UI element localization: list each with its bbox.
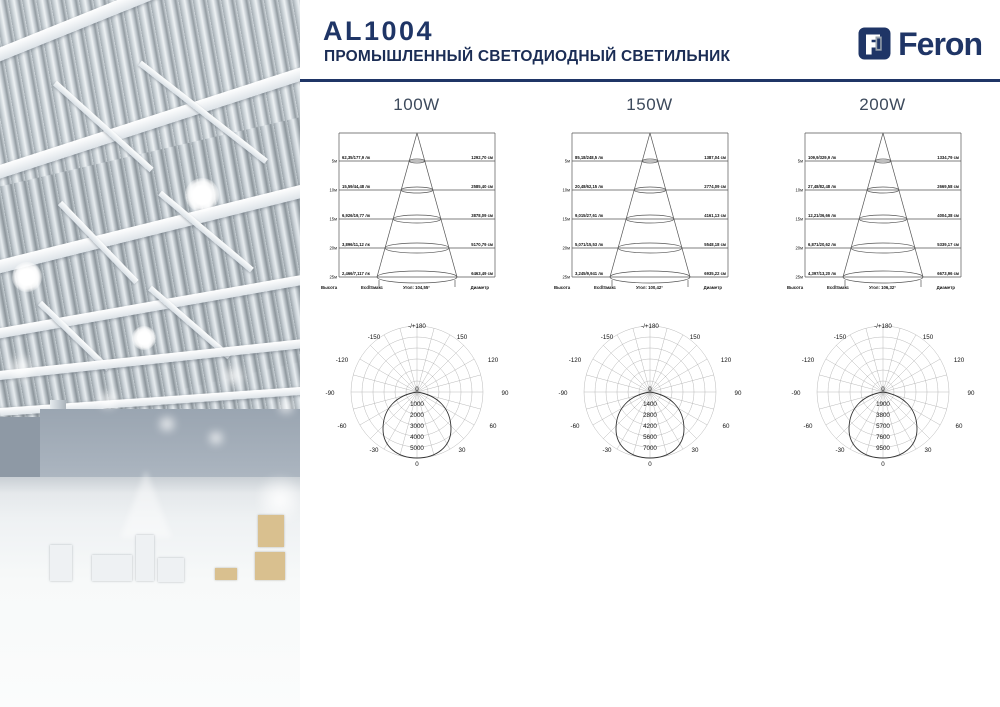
- polar-angle-tick: -30: [369, 447, 379, 454]
- polar-angle-tick: -150: [600, 334, 613, 341]
- beam-diagram-100w: 5м 10м 15м 20м 25м 62,35/177,9 лк 15,59/…: [317, 127, 517, 292]
- polar-radial-tick: 1400: [643, 401, 657, 408]
- polar-angle-tick: 120: [953, 357, 964, 364]
- lux-label: 5,071/15,53 лк: [575, 242, 604, 247]
- lux-label: 85,18/248,5 лк: [575, 155, 604, 160]
- height-label: 25м: [329, 275, 337, 280]
- power-title-100w: 100W: [300, 95, 533, 115]
- polar-angle-tick: 90: [501, 390, 508, 397]
- polar-angle-tick: 150: [689, 334, 700, 341]
- lamp-glow: [95, 390, 121, 410]
- lamp-glow: [205, 430, 227, 446]
- brand-logo: Feron: [858, 27, 982, 60]
- polar-diagram-200w: -/+180 -150 150 -120 120 -90 90 -60 60 -…: [778, 314, 988, 484]
- polar-angle-tick: -120: [568, 357, 581, 364]
- footer-diameter: Диаметр: [703, 285, 722, 290]
- polar-angle-tick: 120: [720, 357, 731, 364]
- lux-label: 12,21/36,66 лк: [808, 213, 837, 218]
- polar-angle-tick: 60: [722, 423, 729, 430]
- diameter-label: 1387,04 см: [704, 155, 726, 160]
- feron-f-logo-icon: [858, 27, 891, 60]
- polar-angle-tick: -/+180: [641, 323, 659, 330]
- polar-radial-tick: 0: [881, 386, 885, 393]
- floor-equipment: [136, 535, 154, 581]
- lux-label: 15,59/44,48 лк: [342, 184, 371, 189]
- footer-lux: Еcd/Sмакс: [827, 285, 850, 290]
- polar-radial-tick: 7600: [876, 434, 890, 441]
- height-label: 15м: [795, 217, 803, 222]
- polar-angle-tick: 0: [648, 461, 652, 468]
- light-cone: [120, 470, 172, 538]
- polar-angle-tick: 150: [456, 334, 467, 341]
- floor-equipment: [92, 555, 132, 581]
- lux-label: 3,245/9,941 лк: [575, 271, 604, 276]
- diameter-label: 6673,96 см: [937, 271, 959, 276]
- product-application-photo: [0, 0, 300, 707]
- footer-lux: Еcd/Sмакс: [594, 285, 617, 290]
- polar-angle-tick: 30: [458, 447, 465, 454]
- polar-diagram-100w: -/+180 -150 150 -120 120 -90 90 -60 60 -…: [312, 314, 522, 484]
- polar-angle-tick: -30: [835, 447, 845, 454]
- diameter-label: 6463,49 см: [471, 271, 493, 276]
- diameter-label: 5339,17 см: [937, 242, 959, 247]
- polar-angle-tick: -60: [803, 423, 813, 430]
- polar-angle-tick: -150: [833, 334, 846, 341]
- polar-angle-tick: -150: [367, 334, 380, 341]
- lux-label: 6,926/19,77 лк: [342, 213, 371, 218]
- lux-label: 9,015/27,61 лк: [575, 213, 604, 218]
- height-label: 25м: [562, 275, 570, 280]
- polar-angle-tick: 90: [734, 390, 741, 397]
- polar-angle-tick: 30: [924, 447, 931, 454]
- polar-angle-tick: -60: [570, 423, 580, 430]
- footer-diameter: Диаметр: [470, 285, 489, 290]
- height-label: 5м: [564, 159, 569, 164]
- lux-label: 27,48/82,48 лк: [808, 184, 837, 189]
- diameter-label: 1292,70 см: [471, 155, 493, 160]
- polar-radial-tick: 3800: [876, 412, 890, 419]
- height-label: 20м: [795, 246, 803, 251]
- diameter-label: 5170,79 см: [471, 242, 493, 247]
- polar-angle-tick: 90: [967, 390, 974, 397]
- product-subtitle: ПРОМЫШЛЕННЫЙ СВЕТОДИОДНЫЙ СВЕТИЛЬНИК: [324, 48, 730, 66]
- floor-equipment: [50, 545, 72, 581]
- footer-height: Высота: [787, 285, 804, 290]
- polar-angle-tick: -90: [558, 390, 568, 397]
- diameter-label: 4161,13 см: [704, 213, 726, 218]
- height-label: 10м: [329, 188, 337, 193]
- lamp-glow: [4, 355, 38, 381]
- power-column-100w: 100W: [300, 95, 533, 515]
- polar-radial-tick: 9500: [876, 445, 890, 452]
- wooden-crate: [255, 552, 285, 580]
- wooden-crate: [215, 568, 237, 580]
- polar-angle-tick: 120: [487, 357, 498, 364]
- polar-radial-tick: 5000: [410, 445, 424, 452]
- lamp-glow: [275, 398, 297, 415]
- footer-lux: Еcd/Sмакс: [361, 285, 384, 290]
- led-highbay-lamp: [185, 178, 219, 212]
- product-model-title: AL1004: [323, 16, 434, 47]
- polar-radial-tick: 7000: [643, 445, 657, 452]
- polar-radial-tick: 4200: [643, 423, 657, 430]
- polar-radial-tick: 0: [648, 386, 652, 393]
- power-title-200w: 200W: [766, 95, 999, 115]
- footer-diameter: Диаметр: [936, 285, 955, 290]
- polar-radial-tick: 3000: [410, 423, 424, 430]
- diameter-label: 2774,09 см: [704, 184, 726, 189]
- diameter-label: 2669,58 см: [937, 184, 959, 189]
- diameter-label: 1334,79 см: [937, 155, 959, 160]
- product-datasheet-page: AL1004 ПРОМЫШЛЕННЫЙ СВЕТОДИОДНЫЙ СВЕТИЛЬ…: [0, 0, 1000, 707]
- polar-angle-tick: 30: [691, 447, 698, 454]
- polar-angle-tick: -120: [801, 357, 814, 364]
- polar-radial-tick: 5700: [876, 423, 890, 430]
- diameter-label: 2585,40 см: [471, 184, 493, 189]
- polar-angle-tick: 150: [922, 334, 933, 341]
- polar-angle-tick: -/+180: [874, 323, 892, 330]
- polar-angle-tick: 0: [881, 461, 885, 468]
- height-label: 5м: [331, 159, 336, 164]
- diameter-label: 3878,09 см: [471, 213, 493, 218]
- footer-height: Высота: [321, 285, 338, 290]
- led-highbay-lamp: [12, 262, 42, 292]
- height-label: 10м: [562, 188, 570, 193]
- footer-height: Высота: [554, 285, 571, 290]
- polar-angle-tick: 0: [415, 461, 419, 468]
- height-label: 15м: [329, 217, 337, 222]
- footer-angle: Угол: 106,32°: [869, 285, 896, 290]
- power-column-200w: 200W: [766, 95, 999, 515]
- polar-angle-tick: -/+180: [408, 323, 426, 330]
- header-divider: [300, 79, 1000, 82]
- polar-angle-tick: -30: [602, 447, 612, 454]
- polar-angle-tick: -60: [337, 423, 347, 430]
- height-label: 5м: [797, 159, 802, 164]
- diameter-label: 4004,38 см: [937, 213, 959, 218]
- led-highbay-lamp: [132, 326, 156, 350]
- beam-diagram-200w: 5м 10м 15м 20м 25м 109,9/329,9 лк 27,48/…: [783, 127, 983, 292]
- height-label: 15м: [562, 217, 570, 222]
- polar-radial-tick: 4000: [410, 434, 424, 441]
- lux-label: 2,466/7,117 лк: [342, 271, 371, 276]
- height-label: 20м: [329, 246, 337, 251]
- polar-angle-tick: -120: [335, 357, 348, 364]
- wooden-crate: [258, 515, 284, 547]
- diameter-label: 5548,18 см: [704, 242, 726, 247]
- lux-label: 6,871/20,62 лк: [808, 242, 837, 247]
- lux-label: 4,397/13,20 лк: [808, 271, 837, 276]
- polar-angle-tick: -90: [791, 390, 801, 397]
- polar-radial-tick: 2000: [410, 412, 424, 419]
- footer-angle: Угол: 104,55°: [403, 285, 430, 290]
- lux-label: 20,48/62,15 лк: [575, 184, 604, 189]
- polar-angle-tick: 60: [489, 423, 496, 430]
- brand-name: Feron: [898, 28, 982, 60]
- photometric-columns: 100W: [300, 95, 1000, 515]
- polar-radial-tick: 5600: [643, 434, 657, 441]
- floor-equipment: [158, 558, 184, 582]
- polar-radial-tick: 1900: [876, 401, 890, 408]
- lux-label: 62,35/177,9 лк: [342, 155, 371, 160]
- polar-radial-tick: 0: [415, 386, 419, 393]
- polar-angle-tick: 60: [955, 423, 962, 430]
- polar-radial-tick: 2800: [643, 412, 657, 419]
- height-label: 20м: [562, 246, 570, 251]
- beam-diagram-150w: 5м 10м 15м 20м 25м 85,18/248,5 лк 20,48/…: [550, 127, 750, 292]
- polar-angle-tick: -90: [325, 390, 335, 397]
- lux-label: 3,896/11,12 лк: [342, 242, 371, 247]
- lux-label: 109,9/329,9 лк: [808, 155, 837, 160]
- footer-angle: Угол: 100,42°: [636, 285, 663, 290]
- height-label: 25м: [795, 275, 803, 280]
- page-header: AL1004 ПРОМЫШЛЕННЫЙ СВЕТОДИОДНЫЙ СВЕТИЛЬ…: [300, 0, 1000, 82]
- power-column-150w: 150W: [533, 95, 766, 515]
- lamp-glow: [155, 415, 179, 433]
- power-title-150w: 150W: [533, 95, 766, 115]
- polar-radial-tick: 1000: [410, 401, 424, 408]
- height-label: 10м: [795, 188, 803, 193]
- polar-diagram-150w: -/+180 -150 150 -120 120 -90 90 -60 60 -…: [545, 314, 755, 484]
- diameter-label: 6935,22 см: [704, 271, 726, 276]
- lamp-glow: [218, 365, 248, 387]
